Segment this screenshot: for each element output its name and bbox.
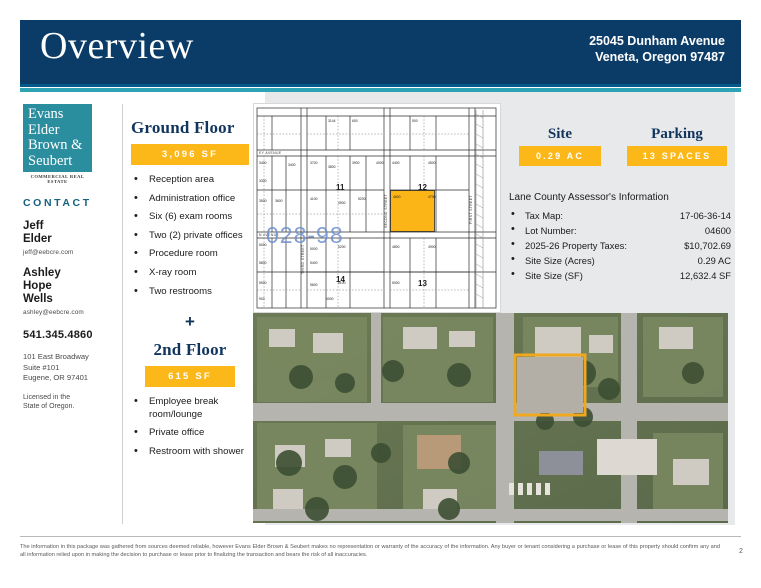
assessor-label: Site Size (SF) <box>525 268 583 283</box>
assessor-label: Lot Number: <box>525 223 577 238</box>
svg-text:4900: 4900 <box>338 201 346 205</box>
table-row: Site Size (Acres) 0.29 AC <box>509 253 731 268</box>
parcel-map-drawing: 3144600500 34003400 330035003600 3700380… <box>254 104 500 312</box>
svg-text:3600: 3600 <box>275 199 283 203</box>
parcel-map[interactable]: 3144600500 34003400 330035003600 3700380… <box>253 103 501 313</box>
svg-text:500: 500 <box>412 119 418 123</box>
svg-text:4900: 4900 <box>428 245 436 249</box>
logo-line-3: Brown & <box>28 138 89 154</box>
list-item: Two (2) private offices <box>131 230 249 243</box>
table-row: Lot Number: 04600 <box>509 223 731 238</box>
svg-text:5900: 5900 <box>259 281 267 285</box>
svg-text:4000: 4000 <box>376 161 384 165</box>
license-line-1: Licensed in the <box>23 393 119 403</box>
ground-floor-title: Ground Floor <box>131 118 249 138</box>
contact-first-name: Jeff <box>23 220 119 233</box>
parcel-map-overlay-label: 028-98 <box>266 222 344 249</box>
site-size-badge: 0.29 AC <box>519 146 601 166</box>
svg-text:3400: 3400 <box>259 161 267 165</box>
property-address: 25045 Dunham Avenue Veneta, Oregon 97487 <box>589 33 725 65</box>
list-item: Two restrooms <box>131 286 249 299</box>
sidebar-divider <box>122 104 123 524</box>
assessor-label: Site Size (Acres) <box>525 253 595 268</box>
page-header: Overview 25045 Dunham Avenue Veneta, Ore… <box>20 20 741 84</box>
logo-subtitle: COMMERCIAL REAL ESTATE <box>23 174 92 184</box>
svg-text:5400: 5400 <box>310 261 318 265</box>
office-address: 101 East Broadway Suite #101 Eugene, OR … <box>23 352 119 384</box>
assessor-label: Tax Map: <box>525 208 563 223</box>
assessor-value: 12,632.4 SF <box>680 268 731 283</box>
logo-line-2: Elder <box>28 123 89 139</box>
logo-line-4: Seubert <box>28 154 89 170</box>
parking-spaces-badge: 13 SPACES <box>627 146 727 166</box>
svg-text:3900: 3900 <box>352 161 360 165</box>
contact-sidebar: Evans Elder Brown & Seubert COMMERCIAL R… <box>23 104 119 412</box>
contact-email-ashley[interactable]: ashley@eebcre.com <box>23 309 119 316</box>
svg-text:FIRST STREET: FIRST STREET <box>469 195 473 224</box>
contact-phone[interactable]: 541.345.4860 <box>23 329 119 341</box>
address-line-2: Veneta, Oregon 97487 <box>589 49 725 65</box>
svg-text:3144: 3144 <box>328 119 336 123</box>
ground-floor-sf-badge: 3,096 SF <box>131 144 249 165</box>
aerial-photo[interactable] <box>253 313 728 523</box>
list-item: Employee break room/lounge <box>131 396 249 421</box>
contact-last-name: Wells <box>23 293 119 306</box>
assessor-value: $10,702.69 <box>684 238 731 253</box>
list-item: Procedure room <box>131 248 249 261</box>
svg-text:5200: 5200 <box>358 197 366 201</box>
disclaimer-text: The information in this package was gath… <box>20 543 720 560</box>
svg-text:4600: 4600 <box>393 195 401 199</box>
floor-details-column: Ground Floor 3,096 SF Reception area Adm… <box>131 118 249 465</box>
header-rule-dark <box>20 84 741 87</box>
assessor-value: 04600 <box>705 223 731 238</box>
office-street: 101 East Broadway <box>23 352 119 363</box>
license-line-2: State of Oregon. <box>23 402 119 412</box>
contact-first-name: Ashley <box>23 267 119 280</box>
svg-text:5000: 5000 <box>326 297 334 301</box>
contact-name-ashley: Ashley Hope Wells <box>23 267 119 306</box>
svg-text:4700: 4700 <box>428 195 436 199</box>
svg-text:3400: 3400 <box>288 163 296 167</box>
list-item: Private office <box>131 427 249 440</box>
svg-text:3500: 3500 <box>259 199 267 203</box>
svg-text:12: 12 <box>418 183 427 192</box>
contact-last-name: Elder <box>23 233 119 246</box>
list-item: Restroom with shower <box>131 446 249 459</box>
svg-text:3800: 3800 <box>328 165 336 169</box>
office-city-state-zip: Eugene, OR 97401 <box>23 373 119 384</box>
second-floor-sf-badge: 615 SF <box>145 366 235 387</box>
svg-text:SECOND STREET: SECOND STREET <box>384 194 388 228</box>
table-row: Tax Map: 17-06-36-14 <box>509 208 731 223</box>
assessor-info-block: Lane County Assessor's Information Tax M… <box>509 192 731 283</box>
svg-text:5600: 5600 <box>310 283 318 287</box>
svg-text:5000: 5000 <box>392 281 400 285</box>
svg-text:4800: 4800 <box>392 245 400 249</box>
list-item: Six (6) exam rooms <box>131 211 249 224</box>
address-line-1: 25045 Dunham Avenue <box>589 33 725 49</box>
page-title: Overview <box>40 24 194 68</box>
svg-text:11: 11 <box>336 183 345 192</box>
assessor-heading: Lane County Assessor's Information <box>509 192 731 203</box>
contact-heading: CONTACT <box>23 197 119 209</box>
site-label: Site <box>511 126 609 143</box>
page-number: 2 <box>739 548 743 555</box>
aerial-photo-image <box>253 313 728 523</box>
contact-email-jeff[interactable]: jeff@eebcre.com <box>23 249 119 256</box>
ground-floor-feature-list: Reception area Administration office Six… <box>131 174 249 298</box>
table-row: 2025-26 Property Taxes: $10,702.69 <box>509 238 731 253</box>
svg-text:600: 600 <box>352 119 358 123</box>
assessor-label: 2025-26 Property Taxes: <box>525 238 627 253</box>
svg-text:13: 13 <box>418 279 427 288</box>
contact-name-jeff: Jeff Elder <box>23 220 119 246</box>
svg-text:5800: 5800 <box>259 261 267 265</box>
contact-middle-name: Hope <box>23 280 119 293</box>
svg-text:4400: 4400 <box>392 161 400 165</box>
svg-text:3300: 3300 <box>259 179 267 183</box>
svg-text:EY AVENUE: EY AVENUE <box>259 151 282 155</box>
svg-text:4500: 4500 <box>428 161 436 165</box>
svg-text:4100: 4100 <box>310 197 318 201</box>
list-item: Reception area <box>131 174 249 187</box>
table-row: Site Size (SF) 12,632.4 SF <box>509 268 731 283</box>
svg-text:3700: 3700 <box>310 161 318 165</box>
office-suite: Suite #101 <box>23 363 119 374</box>
license-note: Licensed in the State of Oregon. <box>23 393 119 412</box>
second-floor-feature-list: Employee break room/lounge Private offic… <box>131 396 249 458</box>
assessor-value: 17-06-36-14 <box>680 208 731 223</box>
list-item: Administration office <box>131 193 249 206</box>
logo-line-1: Evans <box>28 107 89 123</box>
assessor-value: 0.29 AC <box>698 253 731 268</box>
second-floor-title: 2nd Floor <box>131 340 249 360</box>
list-item: X-ray room <box>131 267 249 280</box>
parking-label: Parking <box>625 126 729 143</box>
plus-separator-icon: + <box>131 312 249 332</box>
company-logo: Evans Elder Brown & Seubert <box>23 104 92 172</box>
footer-divider <box>20 536 741 537</box>
svg-text:900: 900 <box>259 297 265 301</box>
svg-text:14: 14 <box>336 275 345 284</box>
